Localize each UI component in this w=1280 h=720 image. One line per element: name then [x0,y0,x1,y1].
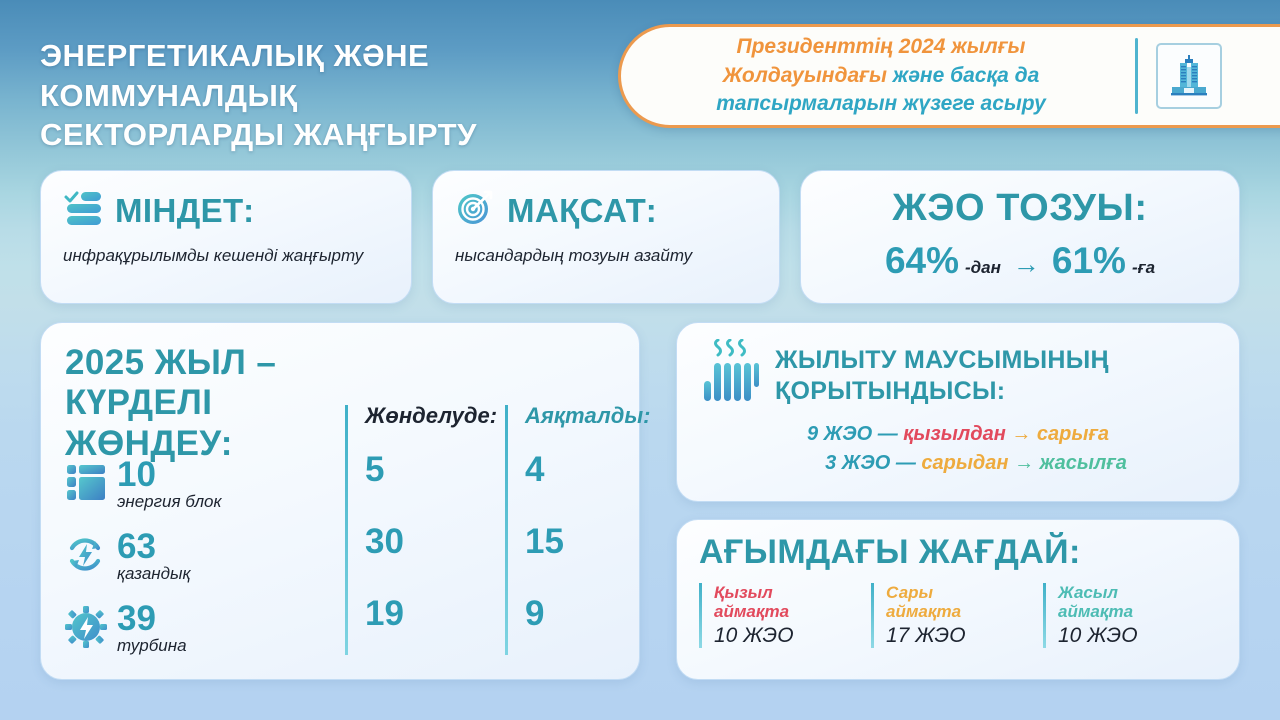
repair-row-label: турбина [117,637,187,656]
heating-transition-row: 9 ЖЭО — қызылдан → сарыға [699,420,1217,449]
card-goal-title: МАҚСАТ: [507,192,657,230]
repair-column-value: 5 [365,452,495,524]
status-zone-label: Қызыл аймақта [714,583,871,621]
repair-column-values: 5 30 19 [365,452,495,668]
badge-divider [1135,38,1138,114]
badge-line-1: Президенттің 2024 жылғы [737,35,1026,58]
repair-rows: 10 энергия блок [65,458,335,674]
card-goal-header: МАҚСАТ: [455,189,757,232]
repair-row-content: 39 турбина [117,602,187,656]
gear-bolt-icon [65,606,107,648]
card-repair: 2025 ЖЫЛ – КҮРДЕЛІ ЖӨНДЕУ: [40,322,640,680]
blocks-icon [65,462,107,504]
status-zone-label-line-2: аймақта [714,602,871,621]
heating-from: қызылдан [903,423,1006,445]
repair-column-value: 9 [525,596,655,668]
repair-row-count: 10 [117,458,222,491]
card-repair-title: 2025 ЖЫЛ – КҮРДЕЛІ ЖӨНДЕУ: [65,343,365,464]
card-heating-title-line-2: ҚОРЫТЫНДЫСЫ: [775,376,1109,407]
repair-column-value: 4 [525,452,655,524]
status-zone-label: Жасыл аймақта [1058,583,1215,621]
page-title-line-2: КОММУНАЛДЫҚ [40,76,610,116]
card-heating-season: ЖЫЛЫТУ МАУСЫМЫНЫҢ ҚОРЫТЫНДЫСЫ: 9 ЖЭО — қ… [676,322,1240,502]
card-status-title: АҒЫМДАҒЫ ЖАҒДАЙ: [699,534,1217,571]
card-heating-title-line-1: ЖЫЛЫТУ МАУСЫМЫНЫҢ [775,345,1109,376]
card-task-title: МІНДЕТ: [115,192,255,230]
card-wear: ЖЭО ТОЗУЫ: 64% -дан → 61% -ға [800,170,1240,304]
page-title-line-3: СЕКТОРЛАРДЫ ЖАҢҒЫРТУ [40,115,610,155]
status-zone-label: Сары аймақта [886,583,1043,621]
badge-line-2-rest: және басқа да [887,64,1039,87]
heating-count: 9 ЖЭО [807,423,872,445]
repair-column-value: 15 [525,524,655,596]
repair-row-label: энергия блок [117,493,222,512]
wear-from-suffix: -дан [965,258,1001,278]
repair-row-content: 63 қазандық [117,530,191,584]
page-title-line-1: ЭНЕРГЕТИКАЛЫҚ ЖӘНЕ [40,36,610,76]
status-zone-value: 10 ЖЭО [1058,624,1215,648]
status-zone-yellow: Сары аймақта 17 ЖЭО [871,583,1043,648]
heating-transitions: 9 ЖЭО — қызылдан → сарыға 3 ЖЭО — сарыда… [699,420,1217,478]
wear-from-value: 64% [885,240,959,282]
card-heating-header: ЖЫЛЫТУ МАУСЫМЫНЫҢ ҚОРЫТЫНДЫСЫ: [699,339,1217,410]
repair-row-count: 63 [117,530,191,563]
repair-column-completed: Аяқталды: 4 15 9 [505,405,655,655]
repair-row-label: қазандық [117,565,191,584]
repair-column-value: 19 [365,596,495,668]
repair-column-value: 30 [365,524,495,596]
heating-transition-row: 3 ЖЭО — сарыдан → жасылға [699,449,1217,478]
repair-row-content: 10 энергия блок [117,458,222,512]
status-zone-label-line-1: Жасыл [1058,583,1215,602]
repair-row: 10 энергия блок [65,458,335,530]
card-task-header: МІНДЕТ: [63,189,389,232]
heating-count: 3 ЖЭО [825,452,890,474]
repair-row: 63 қазандық [65,530,335,602]
wear-to-suffix: -ға [1132,258,1155,278]
government-building-icon [1156,43,1222,109]
status-zone-label-line-1: Қызыл [714,583,871,602]
wear-to-value: 61% [1052,240,1126,282]
repair-column-values: 4 15 9 [525,452,655,668]
radiator-icon [699,339,761,410]
badge-line-3: тапсырмаларын жүзеге асыру [716,92,1046,115]
repair-column-header: Жөнделуде: [365,405,495,427]
status-zone-green: Жасыл аймақта 10 ЖЭО [1043,583,1215,648]
repair-row-count: 39 [117,602,187,635]
heating-to: жасылға [1040,452,1127,474]
repair-row: 39 турбина [65,602,335,674]
cycle-bolt-icon [65,534,107,576]
badge-text: Президенттің 2024 жылғы Жолдауындағы жән… [621,33,1131,119]
status-zone-label-line-1: Сары [886,583,1043,602]
heating-dash: — [878,423,898,445]
president-address-badge: Президенттің 2024 жылғы Жолдауындағы жән… [618,24,1280,128]
infographic-page: ЭНЕРГЕТИКАЛЫҚ ЖӘНЕ КОММУНАЛДЫҚ СЕКТОРЛАР… [0,0,1280,720]
badge-line-2-highlight: Жолдауындағы [723,64,887,87]
page-title: ЭНЕРГЕТИКАЛЫҚ ЖӘНЕ КОММУНАЛДЫҚ СЕКТОРЛАР… [40,36,610,155]
status-zone-value: 10 ЖЭО [714,624,871,648]
card-goal-text: нысандардың тозуын азайту [455,245,757,267]
wear-transition: 64% -дан → 61% -ға [823,240,1217,282]
arrow-right-icon: → [1007,249,1046,280]
card-wear-title: ЖЭО ТОЗУЫ: [823,187,1217,230]
target-icon [455,189,495,232]
heating-from: сарыдан [921,452,1008,474]
repair-column-in-progress: Жөнделуде: 5 30 19 [345,405,495,655]
status-zone-label-line-2: аймақта [1058,602,1215,621]
card-goal: МАҚСАТ: нысандардың тозуын азайту [432,170,780,304]
card-task-text: инфрақұрылымды кешенді жаңғырту [63,245,389,267]
status-zones: Қызыл аймақта 10 ЖЭО Сары аймақта 17 ЖЭО… [699,583,1217,648]
arrow-right-icon: → [1011,423,1031,445]
card-task: МІНДЕТ: инфрақұрылымды кешенді жаңғырту [40,170,412,304]
card-current-status: АҒЫМДАҒЫ ЖАҒДАЙ: Қызыл аймақта 10 ЖЭО Са… [676,519,1240,680]
card-heating-title: ЖЫЛЫТУ МАУСЫМЫНЫҢ ҚОРЫТЫНДЫСЫ: [775,339,1109,406]
heating-to: сарыға [1037,423,1109,445]
heating-dash: — [896,452,916,474]
status-zone-red: Қызыл аймақта 10 ЖЭО [699,583,871,648]
checklist-icon [63,189,103,232]
status-zone-label-line-2: аймақта [886,602,1043,621]
repair-column-header: Аяқталды: [525,405,655,427]
status-zone-value: 17 ЖЭО [886,624,1043,648]
arrow-right-icon: → [1014,452,1034,474]
